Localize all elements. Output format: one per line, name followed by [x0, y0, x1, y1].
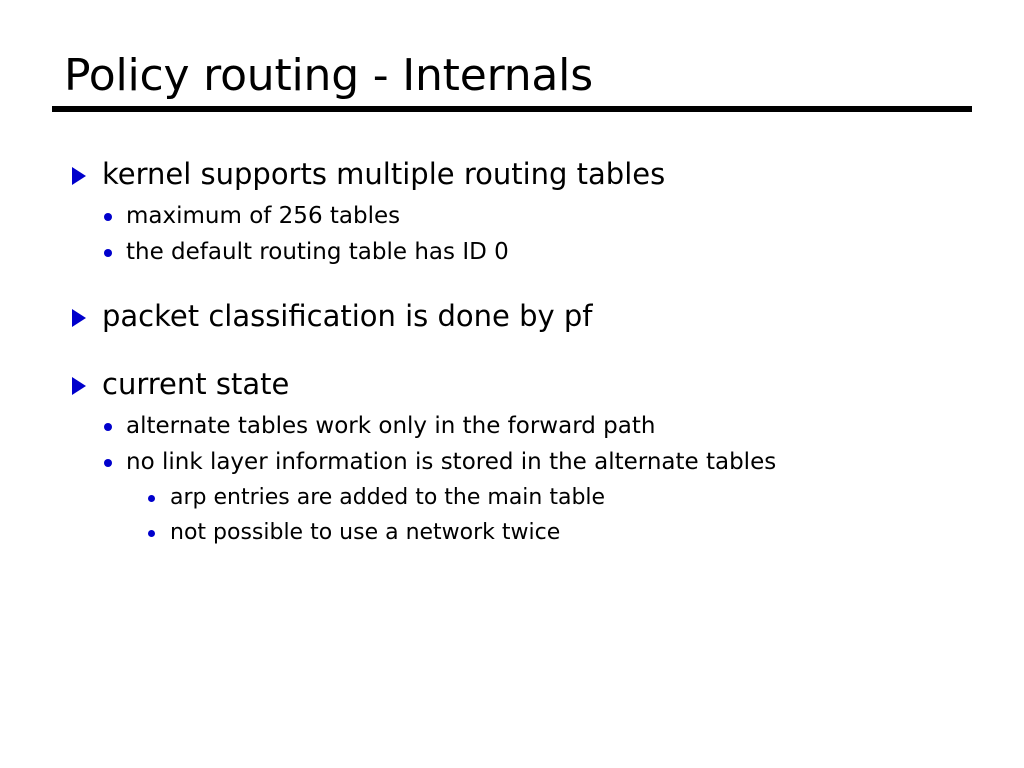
blue-dot-bullet-icon: [104, 201, 126, 235]
bullet-level2-label: the default routing table has ID 0: [126, 235, 509, 269]
bullet-level1-label: current state: [102, 365, 289, 403]
bullet-level2: no link layer information is stored in t…: [0, 445, 1024, 481]
title-divider: [52, 106, 972, 112]
bullet-group: kernel supports multiple routing tables …: [0, 155, 1024, 271]
bullet-level3-label: not possible to use a network twice: [170, 516, 560, 550]
page-title: Policy routing - Internals: [52, 50, 972, 102]
bullet-level2: alternate tables work only in the forwar…: [0, 409, 1024, 445]
blue-dot-bullet-icon: [104, 237, 126, 271]
blue-triangle-bullet-icon: [72, 301, 102, 339]
title-block: Policy routing - Internals: [52, 50, 972, 112]
bullet-level2-label: no link layer information is stored in t…: [126, 445, 776, 479]
bullet-level3: not possible to use a network twice: [0, 516, 1024, 551]
bullet-level2: maximum of 256 tables: [0, 199, 1024, 235]
bullet-level2-label: maximum of 256 tables: [126, 199, 400, 233]
blue-triangle-bullet-icon: [72, 369, 102, 407]
blue-dot-bullet-icon: [104, 411, 126, 445]
bullet-level1: packet classification is done by pf: [0, 297, 1024, 339]
bullet-level2-label: alternate tables work only in the forwar…: [126, 409, 655, 443]
bullet-group: current state alternate tables work only…: [0, 365, 1024, 551]
bullet-level1: current state: [0, 365, 1024, 407]
bullet-level1: kernel supports multiple routing tables: [0, 155, 1024, 197]
bullet-level3-label: arp entries are added to the main table: [170, 481, 605, 515]
bullet-level3: arp entries are added to the main table: [0, 481, 1024, 516]
blue-dot-bullet-icon: [148, 517, 170, 551]
bullet-level1-label: packet classification is done by pf: [102, 297, 593, 335]
blue-dot-bullet-icon: [104, 447, 126, 481]
bullet-level2: the default routing table has ID 0: [0, 235, 1024, 271]
bullet-level1-label: kernel supports multiple routing tables: [102, 155, 665, 193]
bullet-group: packet classification is done by pf: [0, 297, 1024, 339]
slide-body: kernel supports multiple routing tables …: [0, 155, 1024, 551]
blue-dot-bullet-icon: [148, 482, 170, 516]
blue-triangle-bullet-icon: [72, 159, 102, 197]
slide: Policy routing - Internals kernel suppor…: [0, 0, 1024, 768]
